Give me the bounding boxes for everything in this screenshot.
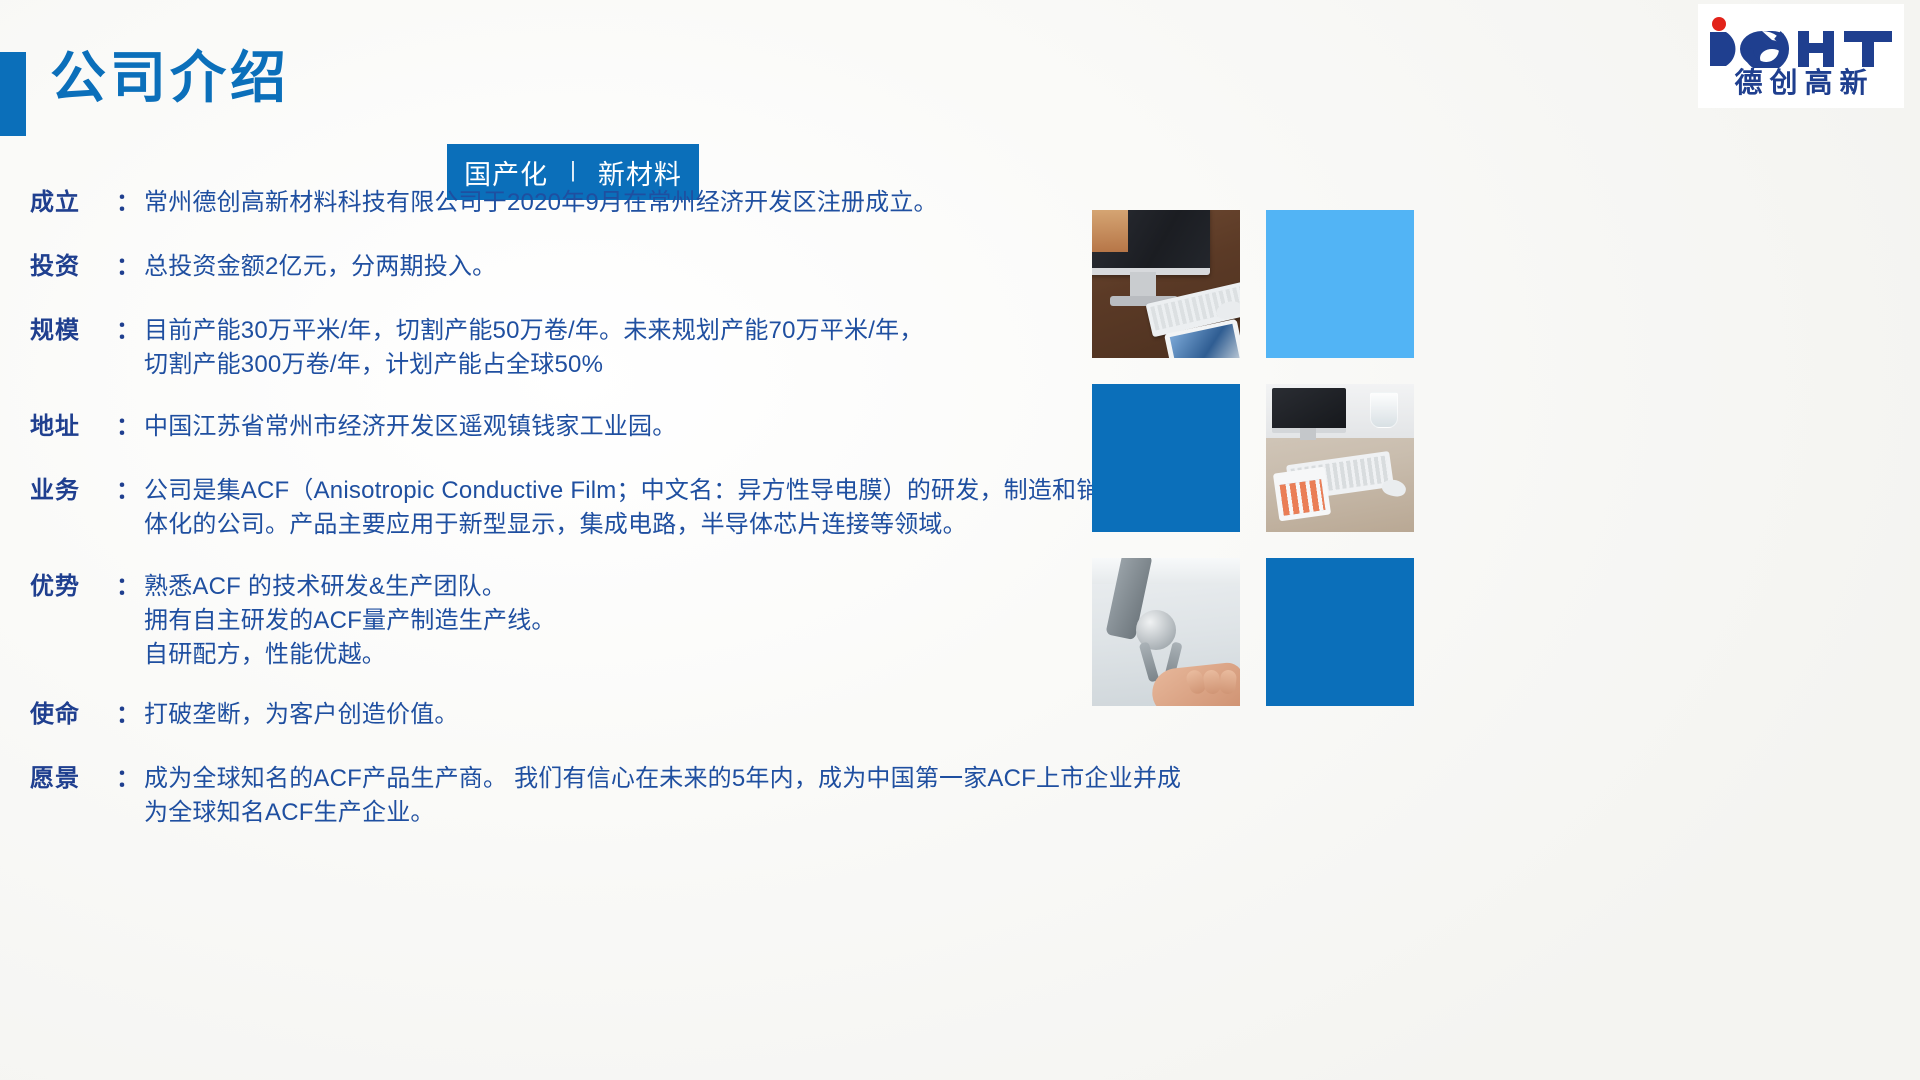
info-colon-business: ： bbox=[116, 474, 144, 508]
light-blue-block bbox=[1266, 210, 1414, 358]
info-line: 打破垄断，为客户创造价值。 bbox=[144, 698, 1090, 732]
info-body-address: 中国江苏省常州市经济开发区遥观镇钱家工业园。 bbox=[144, 410, 1090, 444]
info-row-business: 业务 ： 公司是集ACF（Anisotropic Conductive Film… bbox=[30, 474, 1090, 542]
info-label-founded: 成立 bbox=[30, 186, 116, 220]
info-line: 常州德创高新材料科技有限公司于2020年9月在常州经济开发区注册成立。 bbox=[144, 186, 1090, 220]
info-body-advantage: 熟悉ACF 的技术研发&生产团队。 拥有自主研发的ACF量产制造生产线。 自研配… bbox=[144, 570, 1090, 672]
info-line: 体化的公司。产品主要应用于新型显示，集成电路，半导体芯片连接等领域。 bbox=[144, 508, 1149, 542]
info-body-mission: 打破垄断，为客户创造价值。 bbox=[144, 698, 1090, 732]
info-colon-advantage: ： bbox=[116, 570, 144, 604]
info-label-scale: 规模 bbox=[30, 314, 116, 348]
info-row-mission: 使命 ： 打破垄断，为客户创造价值。 bbox=[30, 698, 1090, 732]
info-label-investment: 投资 bbox=[30, 250, 116, 284]
robot-arm-photo bbox=[1092, 558, 1240, 706]
info-colon-mission: ： bbox=[116, 698, 144, 732]
info-line: 为全球知名ACF生产企业。 bbox=[144, 796, 1181, 830]
info-label-advantage: 优势 bbox=[30, 570, 116, 604]
info-body-scale: 目前产能30万平米/年，切割产能50万卷/年。未来规划产能70万平米/年， 切割… bbox=[144, 314, 1090, 382]
background-bar-shape bbox=[1092, 558, 1240, 584]
calculator-shape bbox=[1273, 467, 1331, 522]
image-grid bbox=[1092, 210, 1422, 706]
info-label-address: 地址 bbox=[30, 410, 116, 444]
monitor-stand-shape bbox=[1130, 272, 1156, 298]
slide: 公司介绍 德创高新 国产化 | 新材料 成立 bbox=[0, 0, 1920, 1080]
info-line: 自研配方，性能优越。 bbox=[144, 638, 1090, 672]
info-label-business: 业务 bbox=[30, 474, 116, 508]
dcht-wordmark-icon bbox=[1706, 16, 1896, 68]
blue-block bbox=[1092, 384, 1240, 532]
office-desk-photo bbox=[1266, 384, 1414, 532]
info-colon-scale: ： bbox=[116, 314, 144, 348]
company-info-list: 成立 ： 常州德创高新材料科技有限公司于2020年9月在常州经济开发区注册成立。… bbox=[30, 186, 1090, 830]
info-line: 熟悉ACF 的技术研发&生产团队。 bbox=[144, 570, 1090, 604]
info-label-vision: 愿景 bbox=[30, 762, 116, 796]
info-row-investment: 投资 ： 总投资金额2亿元，分两期投入。 bbox=[30, 250, 1090, 284]
info-line: 公司是集ACF（Anisotropic Conductive Film；中文名：… bbox=[144, 474, 1149, 508]
page-title: 公司介绍 bbox=[50, 44, 290, 111]
imac-desk-photo bbox=[1092, 210, 1240, 358]
blue-block bbox=[1266, 558, 1414, 706]
info-line: 中国江苏省常州市经济开发区遥观镇钱家工业园。 bbox=[144, 410, 1090, 444]
info-colon-investment: ： bbox=[116, 250, 144, 284]
info-row-advantage: 优势 ： 熟悉ACF 的技术研发&生产团队。 拥有自主研发的ACF量产制造生产线… bbox=[30, 570, 1090, 672]
info-colon-founded: ： bbox=[116, 186, 144, 220]
info-body-vision: 成为全球知名的ACF产品生产商。 我们有信心在未来的5年内，成为中国第一家ACF… bbox=[144, 762, 1181, 830]
info-colon-address: ： bbox=[116, 410, 144, 444]
monitor-shape bbox=[1092, 210, 1210, 275]
info-row-vision: 愿景 ： 成为全球知名的ACF产品生产商。 我们有信心在未来的5年内，成为中国第… bbox=[30, 762, 1090, 830]
logo-subtitle: 德创高新 bbox=[1727, 69, 1874, 97]
info-line: 切割产能300万卷/年，计划产能占全球50% bbox=[144, 348, 1090, 382]
info-line: 成为全球知名的ACF产品生产商。 我们有信心在未来的5年内，成为中国第一家ACF… bbox=[144, 762, 1181, 796]
title-accent-bar bbox=[0, 52, 26, 136]
info-line: 总投资金额2亿元，分两期投入。 bbox=[144, 250, 1090, 284]
info-row-founded: 成立 ： 常州德创高新材料科技有限公司于2020年9月在常州经济开发区注册成立。 bbox=[30, 186, 1090, 220]
info-body-business: 公司是集ACF（Anisotropic Conductive Film；中文名：… bbox=[144, 474, 1149, 542]
info-body-investment: 总投资金额2亿元，分两期投入。 bbox=[144, 250, 1090, 284]
info-row-address: 地址 ： 中国江苏省常州市经济开发区遥观镇钱家工业园。 bbox=[30, 410, 1090, 444]
info-colon-vision: ： bbox=[116, 762, 144, 796]
info-line: 拥有自主研发的ACF量产制造生产线。 bbox=[144, 604, 1090, 638]
info-body-founded: 常州德创高新材料科技有限公司于2020年9月在常州经济开发区注册成立。 bbox=[144, 186, 1090, 220]
info-line: 目前产能30万平米/年，切割产能50万卷/年。未来规划产能70万平米/年， bbox=[144, 314, 1090, 348]
info-label-mission: 使命 bbox=[30, 698, 116, 732]
monitor-stand-shape bbox=[1300, 428, 1316, 440]
banner-separator: | bbox=[570, 159, 576, 181]
mouse-shape bbox=[1381, 478, 1408, 499]
glass-shape bbox=[1370, 392, 1398, 428]
info-row-scale: 规模 ： 目前产能30万平米/年，切割产能50万卷/年。未来规划产能70万平米/… bbox=[30, 314, 1090, 382]
monitor-shape bbox=[1272, 388, 1346, 433]
company-logo: 德创高新 bbox=[1698, 4, 1904, 108]
